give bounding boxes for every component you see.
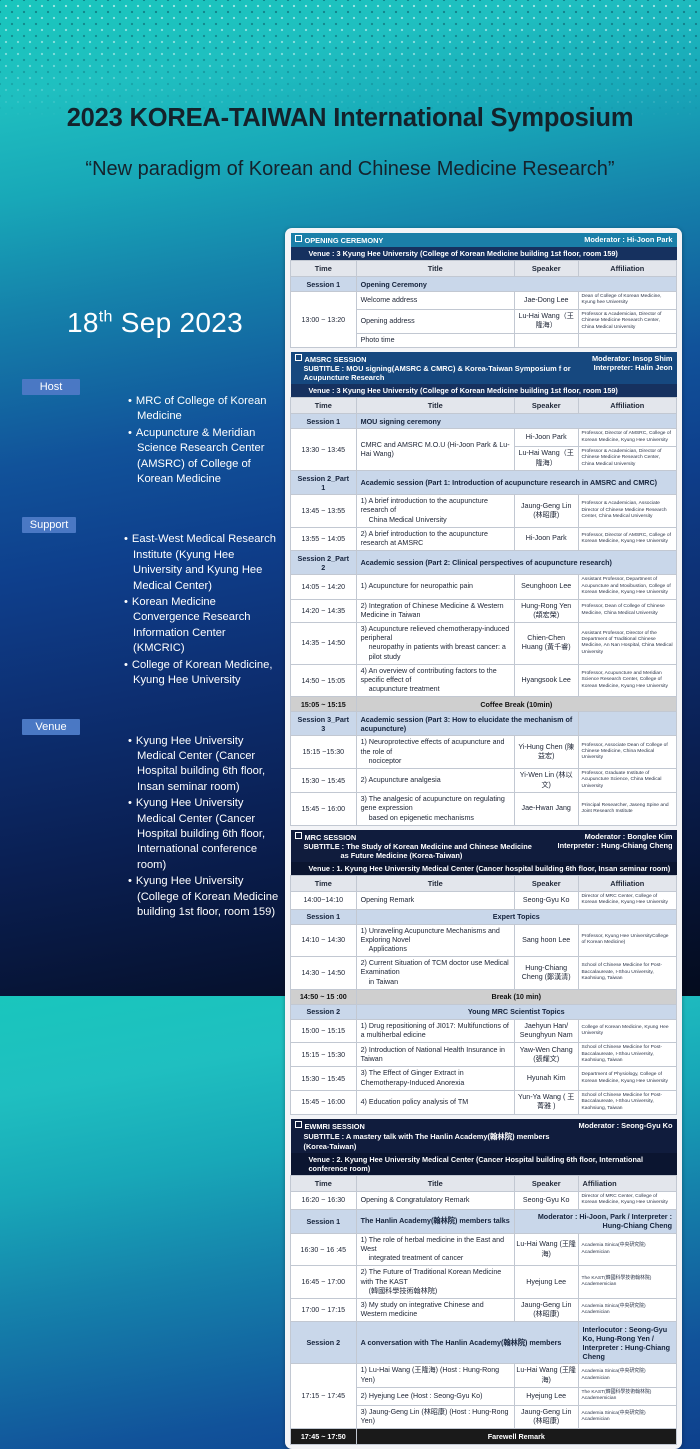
row-title-line2: integrated treatment of cancer xyxy=(361,1254,510,1263)
list-item: Kyung Hee University Medical Center (Can… xyxy=(128,796,280,873)
col-title: Title xyxy=(356,1176,514,1192)
row-speaker: Seong-Gyu Ko xyxy=(514,1192,578,1210)
col-title: Title xyxy=(356,261,514,277)
table-row: 13:45 ~ 13:55 1) A brief introduction to… xyxy=(291,495,677,528)
session-extra xyxy=(578,712,676,736)
section-moderator: Moderator : Hi-Joon Park xyxy=(578,235,672,244)
row-title-line1: 1) A brief introduction to the acupunctu… xyxy=(361,497,488,514)
host-items: MRC of College of Korean Medicine Acupun… xyxy=(88,394,280,487)
row-speaker: Jaung-Geng Lin (林昭康) xyxy=(514,1405,578,1428)
row-affiliation: Academia Sinica(中央研究院) Academician xyxy=(578,1405,676,1428)
bullet-square-icon xyxy=(295,832,302,839)
break-row: 15:05 ~ 15:15 Coffee Break (10min) xyxy=(291,697,677,712)
session-title: Academic session (Part 1: Introduction o… xyxy=(356,471,676,495)
section-subtitle: SUBTITLE : The Study of Korean Medicine … xyxy=(295,842,552,851)
row-title-line2: (韓國科學技術翰林院) xyxy=(361,1287,510,1296)
row-affiliation: Director of MRC Center, College of Korea… xyxy=(578,1192,676,1210)
row-title-line2: acupuncture treatment xyxy=(361,685,510,694)
event-date-month-year: Sep 2023 xyxy=(121,307,243,338)
host-group: Host MRC of College of Korean Medicine A… xyxy=(22,378,280,503)
row-title: 2) Hyejung Lee (Host : Seong-Gyu Ko) xyxy=(356,1387,514,1405)
session-row: Session 1 The Hanlin Academy(翰林院) member… xyxy=(291,1209,677,1233)
row-time: 16:20 ~ 16:30 xyxy=(291,1192,357,1210)
row-speaker: Seong-Gyu Ko xyxy=(514,891,578,909)
col-time: Time xyxy=(291,261,357,277)
row-time: 16:30 ~ 16 :45 xyxy=(291,1233,357,1266)
col-speaker: Speaker xyxy=(514,875,578,891)
session-title: Academic session (Part 3: How to elucida… xyxy=(356,712,578,736)
session-title: Academic session (Part 2: Clinical persp… xyxy=(356,551,676,575)
row-title: Opening address xyxy=(356,309,514,333)
row-time: 14:10 ~ 14:30 xyxy=(291,924,357,957)
table-row: 17:15 ~ 17:45 1) Lu-Hai Wang (王隆海) (Host… xyxy=(291,1364,677,1387)
row-title: 1) A brief introduction to the acupunctu… xyxy=(356,495,514,528)
session-interlocutor: Interlocutor : Seong-Gyu Ko, Hung-Rong Y… xyxy=(578,1322,676,1364)
row-time: 15:15 ~15:30 xyxy=(291,736,357,769)
table-row: 15:15 ~ 15:30 2) Introduction of Nationa… xyxy=(291,1043,677,1067)
row-title: Photo time xyxy=(356,334,514,348)
list-item: East-West Medical Research Institute (Ky… xyxy=(124,532,280,594)
row-title-line1: 2) Current Situation of TCM doctor use M… xyxy=(361,959,509,976)
row-time: 16:45 ~ 17:00 xyxy=(291,1266,357,1299)
venue-tag: Venue xyxy=(22,719,80,735)
row-time: 17:00 ~ 17:15 xyxy=(291,1299,357,1322)
list-item: MRC of College of Korean Medicine xyxy=(128,394,280,425)
table-row: 13:30 ~ 13:45 CMRC and AMSRC M.O.U (Hi-J… xyxy=(291,429,677,447)
row-affiliation xyxy=(578,334,676,348)
row-affiliation: Professor & Academician, Associate Direc… xyxy=(578,495,676,528)
section-moderator: Moderator : Seong-Gyu Ko xyxy=(572,1121,672,1130)
row-title-line1: 4) An overview of contributing factors t… xyxy=(361,667,497,684)
row-title: 1) Unraveling Acupuncture Mechanisms and… xyxy=(356,924,514,957)
session-title: MOU signing ceremony xyxy=(356,414,676,429)
row-time: 14:20 ~ 14:35 xyxy=(291,599,357,622)
row-title: 3) The analgesic of acupuncture on regul… xyxy=(356,793,514,826)
row-title-line2: China Medical University xyxy=(361,516,510,525)
row-speaker: Chien-Chen Huang (黃千睿) xyxy=(514,622,578,664)
row-title: CMRC and AMSRC M.O.U (Hi-Joon Park & Lu-… xyxy=(356,429,514,471)
session-title: A conversation with The Hanlin Academy(翰… xyxy=(356,1322,578,1364)
event-date: 18th Sep 2023 xyxy=(30,307,280,339)
row-affiliation: Academia Sinica(中央研究院) Academician xyxy=(578,1299,676,1322)
section-header-amsrc: AMSRC SESSION SUBTITLE : MOU signing(AMS… xyxy=(291,352,677,384)
session-label: Session 2_Part 1 xyxy=(291,471,357,495)
row-affiliation: School of Chinese Medicine for Post-Bacc… xyxy=(578,1043,676,1067)
dot-pattern-decoration xyxy=(0,0,700,118)
row-affiliation: Professor, Acupuncture and Meridian Scie… xyxy=(578,664,676,697)
section-header-ewmri: EWMRI SESSION SUBTITLE : A mastery talk … xyxy=(291,1119,677,1153)
session-title: The Hanlin Academy(翰林院) members talks xyxy=(356,1209,514,1233)
session-row: Session 1 MOU signing ceremony xyxy=(291,414,677,429)
row-title: 1) Acupuncture for neuropathic pain xyxy=(356,575,514,599)
table-row: 14:10 ~ 14:30 1) Unraveling Acupuncture … xyxy=(291,924,677,957)
host-tag: Host xyxy=(22,379,80,395)
row-speaker: Lu-Hai Wang（王隆海） xyxy=(514,447,578,471)
row-title-line2: neuropathy in patients with breast cance… xyxy=(361,643,510,661)
row-title-line1: 1) Neuroprotective effects of acupunctur… xyxy=(361,738,505,755)
col-time: Time xyxy=(291,1176,357,1192)
session-row: Session 1 Opening Ceremony xyxy=(291,277,677,292)
session-label: Session 2_Part 2 xyxy=(291,551,357,575)
row-title-line2: in Taiwan xyxy=(361,978,510,987)
session-title: Young MRC Scientist Topics xyxy=(356,1004,676,1019)
row-title: 3) Acupuncture relieved chemotherapy-ind… xyxy=(356,622,514,664)
row-title: 1) Lu-Hai Wang (王隆海) (Host : Hung-Rong Y… xyxy=(356,1364,514,1387)
list-item: Acupuncture & Meridian Science Research … xyxy=(128,426,280,488)
row-title: Opening & Congratulatory Remark xyxy=(356,1192,514,1210)
section-name: OPENING CEREMONY xyxy=(305,236,384,245)
row-title: 4) Education policy analysis of TM xyxy=(356,1090,514,1114)
session-title: Expert Topics xyxy=(356,909,676,924)
row-affiliation: Professor, Associate Dean of College of … xyxy=(578,736,676,769)
section-moderator: Moderator: Insop Shim xyxy=(592,354,672,363)
section-name: AMSRC SESSION xyxy=(305,355,367,364)
session-label: Session 1 xyxy=(291,277,357,292)
row-title-line2: Applications xyxy=(361,945,510,954)
session-row: Session 2_Part 1 Academic session (Part … xyxy=(291,471,677,495)
column-header-row: Time Title Speaker Affiliation xyxy=(291,1176,677,1192)
row-affiliation: Professor, Kyung Hee UniversityCollege o… xyxy=(578,924,676,957)
row-time: 15:30 ~ 15:45 xyxy=(291,768,357,792)
row-speaker: Seunghoon Lee xyxy=(514,575,578,599)
row-title: Welcome address xyxy=(356,292,514,310)
col-title: Title xyxy=(356,398,514,414)
section-name: MRC SESSION xyxy=(305,833,357,842)
row-speaker: Jaung-Geng Lin (林昭康) xyxy=(514,495,578,528)
farewell-label: Farewell Remark xyxy=(356,1429,676,1445)
row-time: 14:05 ~ 14:20 xyxy=(291,575,357,599)
col-time: Time xyxy=(291,398,357,414)
row-time: 14:50 ~ 15:05 xyxy=(291,664,357,697)
row-title: Opening Remark xyxy=(356,891,514,909)
session-label: Session 3_Part 3 xyxy=(291,712,357,736)
support-group: Support East-West Medical Research Insti… xyxy=(22,516,280,704)
col-time: Time xyxy=(291,875,357,891)
row-affiliation: Director of MRC Center, College of Korea… xyxy=(578,891,676,909)
row-title: 2) Introduction of National Health Insur… xyxy=(356,1043,514,1067)
row-title-line1: 1) Unraveling Acupuncture Mechanisms and… xyxy=(361,927,500,944)
row-time: 13:55 ~ 14:05 xyxy=(291,527,357,550)
row-speaker: Yi-Hung Chen (陳益宏) xyxy=(514,736,578,769)
table-row: 13:00 ~ 13:20 Welcome address Jae-Dong L… xyxy=(291,292,677,310)
row-title: 2) Current Situation of TCM doctor use M… xyxy=(356,957,514,990)
row-speaker: Hi-Joon Park xyxy=(514,429,578,447)
page-title: 2023 KOREA-TAIWAN International Symposiu… xyxy=(0,104,700,133)
table-row: 16:20 ~ 16:30 Opening & Congratulatory R… xyxy=(291,1192,677,1210)
row-affiliation: The KAST(韓國科學技術翰林院) Academemician xyxy=(578,1387,676,1405)
table-row: 14:00~14:10 Opening Remark Seong-Gyu Ko … xyxy=(291,891,677,909)
row-time: 14:35 ~ 14:50 xyxy=(291,622,357,664)
interpreter-line2: Interpreter : Hung-Chiang Cheng xyxy=(583,1343,672,1361)
section-mrc: MRC SESSION SUBTITLE : The Study of Kore… xyxy=(290,830,677,1115)
row-speaker: Jae-Dong Lee xyxy=(514,292,578,310)
session-label: Session 1 xyxy=(291,1209,357,1233)
col-affiliation: Affiliation xyxy=(578,1176,676,1192)
row-affiliation: Assistant Professor, Department of Acupu… xyxy=(578,575,676,599)
row-affiliation: Academia Sinica(中央研究院) Academician xyxy=(578,1364,676,1387)
row-title: 1) Neuroprotective effects of acupunctur… xyxy=(356,736,514,769)
bullet-square-icon xyxy=(295,235,302,242)
section-opening-ceremony: OPENING CEREMONY Moderator : Hi-Joon Par… xyxy=(290,233,677,348)
break-time: 14:50 ~ 15 :00 xyxy=(291,989,357,1004)
session-row: Session 2 Young MRC Scientist Topics xyxy=(291,1004,677,1019)
row-affiliation: Professor & Academician, Director of Chi… xyxy=(578,447,676,471)
row-affiliation: Department of Physiology, College of Kor… xyxy=(578,1067,676,1090)
row-speaker xyxy=(514,334,578,348)
row-affiliation: Principal Researcher, Jaseng Spine and J… xyxy=(578,793,676,826)
list-item: Kyung Hee University Medical Center (Can… xyxy=(128,734,280,796)
section-venue: Venue : 3 Kyung Hee University (College … xyxy=(291,247,677,261)
section-interpreter: Interpreter: Halin Jeon xyxy=(592,363,672,372)
row-affiliation: Dean of College of Korean Medicine, Kyun… xyxy=(578,292,676,310)
page-subtitle: “New paradigm of Korean and Chinese Medi… xyxy=(0,158,700,181)
section-subtitle: SUBTITLE : MOU signing(AMSRC & CMRC) & K… xyxy=(295,364,587,382)
session-label: Session 2 xyxy=(291,1004,357,1019)
row-speaker: Hyangsook Lee xyxy=(514,664,578,697)
table-row: 15:00 ~ 15:15 1) Drug repositioning of J… xyxy=(291,1019,677,1042)
section-header-mrc: MRC SESSION SUBTITLE : The Study of Kore… xyxy=(291,830,677,862)
interlocutor-line1: Interlocutor : Seong-Gyu Ko, Hung-Rong Y… xyxy=(583,1325,672,1343)
row-time: 15:45 ~ 16:00 xyxy=(291,1090,357,1114)
row-title: 3) The Effect of Ginger Extract in Chemo… xyxy=(356,1067,514,1090)
row-title-line2: based on epigenetic mechanisms xyxy=(361,814,510,823)
row-speaker: Sang hoon Lee xyxy=(514,924,578,957)
table-row: 15:45 ~ 16:00 4) Education policy analys… xyxy=(291,1090,677,1114)
row-title: 1) The role of herbal medicine in the Ea… xyxy=(356,1233,514,1266)
row-affiliation: Professor, Director of AMSRC, College of… xyxy=(578,527,676,550)
col-affiliation: Affiliation xyxy=(578,875,676,891)
section-venue: Venue : 3 Kyung Hee University (College … xyxy=(291,384,677,398)
table-row: 14:20 ~ 14:35 2) Integration of Chinese … xyxy=(291,599,677,622)
row-title: 3) My study on integrative Chinese and W… xyxy=(356,1299,514,1322)
session-label: Session 1 xyxy=(291,909,357,924)
row-affiliation: Professor, Dean of College of Chinese Me… xyxy=(578,599,676,622)
col-affiliation: Affiliation xyxy=(578,398,676,414)
row-speaker: Hyejung Lee xyxy=(514,1266,578,1299)
row-speaker: Lu-Hai Wang (王隆海) xyxy=(514,1364,578,1387)
row-affiliation: Academia Sinica(中央研究院) Academician xyxy=(578,1233,676,1266)
session-row: Session 2_Part 2 Academic session (Part … xyxy=(291,551,677,575)
row-affiliation: Assistant Professor, Director of the Dep… xyxy=(578,622,676,664)
row-title-line1: 3) Acupuncture relieved chemotherapy-ind… xyxy=(361,625,510,642)
row-title-line1: 3) The analgesic of acupuncture on regul… xyxy=(361,795,505,812)
row-speaker: Yi-Wen Lin (林以文) xyxy=(514,768,578,792)
row-affiliation: Professor, Director of AMSRC, College of… xyxy=(578,429,676,447)
event-date-ordinal: th xyxy=(99,309,113,326)
row-speaker: Jaung-Geng Lin (林昭康) xyxy=(514,1299,578,1322)
row-time: 14:30 ~ 14:50 xyxy=(291,957,357,990)
row-title-line2: nociceptor xyxy=(361,757,510,766)
table-row: 13:55 ~ 14:05 2) A brief introduction to… xyxy=(291,527,677,550)
session-row: Session 2 A conversation with The Hanlin… xyxy=(291,1322,677,1364)
row-speaker: Hung-Rong Yen (頡宏榮) xyxy=(514,599,578,622)
row-affiliation: The KAST(韓國科學技術翰林院) Academemician xyxy=(578,1266,676,1299)
bullet-square-icon xyxy=(295,354,302,361)
row-affiliation: Professor & Academician, Director of Chi… xyxy=(578,309,676,333)
section-venue: Venue : 1. Kyung Hee University Medical … xyxy=(291,862,677,876)
row-affiliation: Professor, Graduate Institute of Acupunc… xyxy=(578,768,676,792)
bullet-square-icon xyxy=(295,1121,302,1128)
row-affiliation: School of Chinese Medicine for Post-Bacc… xyxy=(578,957,676,990)
session-moderator-interpreter: Moderator : Hi-Joon, Park / Interpreter … xyxy=(514,1209,676,1233)
table-row: 17:00 ~ 17:15 3) My study on integrative… xyxy=(291,1299,677,1322)
farewell-row: 17:45 ~ 17:50 Farewell Remark xyxy=(291,1429,677,1445)
section-moderator: Moderator : Bonglee Kim xyxy=(558,832,673,841)
col-title: Title xyxy=(356,875,514,891)
row-time: 13:30 ~ 13:45 xyxy=(291,429,357,471)
venue-group: Venue Kyung Hee University Medical Cente… xyxy=(22,718,280,937)
row-title: 4) An overview of contributing factors t… xyxy=(356,664,514,697)
section-venue: Venue : 2. Kyung Hee University Medical … xyxy=(291,1153,677,1176)
section-subtitle: SUBTITLE : A mastery talk with The Hanli… xyxy=(295,1131,573,1151)
col-speaker: Speaker xyxy=(514,1176,578,1192)
support-tag: Support xyxy=(22,517,76,533)
session-row: Session 1 Expert Topics xyxy=(291,909,677,924)
table-row: 15:30 ~ 15:45 2) Acupuncture analgesia Y… xyxy=(291,768,677,792)
list-item: College of Korean Medicine, Kyung Hee Un… xyxy=(124,658,280,689)
list-item: Korean Medicine Convergence Research Inf… xyxy=(124,595,280,657)
session-title: Opening Ceremony xyxy=(356,277,676,292)
section-subtitle-2: as Future Medicine (Korea-Taiwan) xyxy=(295,851,552,860)
row-affiliation: School of Chinese Medicine for Post-Bacc… xyxy=(578,1090,676,1114)
support-items: East-West Medical Research Institute (Ky… xyxy=(84,532,280,688)
col-speaker: Speaker xyxy=(514,398,578,414)
session-label: Session 1 xyxy=(291,414,357,429)
row-speaker: Lu-Hai Wang（王隆海） xyxy=(514,309,578,333)
row-time: 15:45 ~ 16:00 xyxy=(291,793,357,826)
section-header-opening: OPENING CEREMONY Moderator : Hi-Joon Par… xyxy=(291,233,677,247)
row-title: 2) Integration of Chinese Medicine & Wes… xyxy=(356,599,514,622)
row-time: 15:00 ~ 15:15 xyxy=(291,1019,357,1042)
venue-items: Kyung Hee University Medical Center (Can… xyxy=(88,734,280,921)
section-ewmri: EWMRI SESSION SUBTITLE : A mastery talk … xyxy=(290,1119,677,1445)
table-row: 16:30 ~ 16 :45 1) The role of herbal med… xyxy=(291,1233,677,1266)
row-title: 1) Drug repositioning of JI017: Multifun… xyxy=(356,1019,514,1042)
table-row: 14:50 ~ 15:05 4) An overview of contribu… xyxy=(291,664,677,697)
event-info-block: Host MRC of College of Korean Medicine A… xyxy=(22,378,280,949)
row-time: 17:15 ~ 17:45 xyxy=(291,1364,357,1429)
row-speaker: Jae-Hwan Jang xyxy=(514,793,578,826)
table-row: 15:30 ~ 15:45 3) The Effect of Ginger Ex… xyxy=(291,1067,677,1090)
table-row: 15:45 ~ 16:00 3) The analgesic of acupun… xyxy=(291,793,677,826)
row-title-line1: 1) The role of herbal medicine in the Ea… xyxy=(361,1236,504,1253)
schedule-panel: OPENING CEREMONY Moderator : Hi-Joon Par… xyxy=(285,228,682,1449)
list-item: Kyung Hee University (College of Korean … xyxy=(128,874,280,920)
column-header-row: Time Title Speaker Affiliation xyxy=(291,261,677,277)
section-interpreter: Interpreter : Hung-Chiang Cheng xyxy=(558,841,673,850)
event-date-day: 18 xyxy=(67,307,99,338)
break-row: 14:50 ~ 15 :00 Break (10 min) xyxy=(291,989,677,1004)
row-time: 15:15 ~ 15:30 xyxy=(291,1043,357,1067)
row-speaker: Yun-Ya Wang ( 王菁雅 ) xyxy=(514,1090,578,1114)
col-speaker: Speaker xyxy=(514,261,578,277)
section-amsrc: AMSRC SESSION SUBTITLE : MOU signing(AMS… xyxy=(290,352,677,826)
session-label: Session 2 xyxy=(291,1322,357,1364)
row-speaker: Hung-Chiang Cheng (鄭漢清) xyxy=(514,957,578,990)
table-row: 15:15 ~15:30 1) Neuroprotective effects … xyxy=(291,736,677,769)
row-title: 3) Jaung-Geng Lin (林昭康) (Host : Hung-Ron… xyxy=(356,1405,514,1428)
table-row: 14:35 ~ 14:50 3) Acupuncture relieved ch… xyxy=(291,622,677,664)
row-title: 2) A brief introduction to the acupunctu… xyxy=(356,527,514,550)
row-title-line1: 2) The Future of Traditional Korean Medi… xyxy=(361,1268,502,1285)
table-row: 14:30 ~ 14:50 2) Current Situation of TC… xyxy=(291,957,677,990)
table-row: 16:45 ~ 17:00 2) The Future of Tradition… xyxy=(291,1266,677,1299)
col-affiliation: Affiliation xyxy=(578,261,676,277)
row-time: 15:30 ~ 15:45 xyxy=(291,1067,357,1090)
row-speaker: Lu-Hai Wang (王隆海) xyxy=(514,1233,578,1266)
row-speaker: Yaw-Wen Chang (張耀文) xyxy=(514,1043,578,1067)
row-speaker: Jaehyun Han/ Seunghyun Nam xyxy=(514,1019,578,1042)
break-label: Coffee Break (10min) xyxy=(356,697,676,712)
break-label: Break (10 min) xyxy=(356,989,676,1004)
row-speaker: Hyunah Kim xyxy=(514,1067,578,1090)
farewell-time: 17:45 ~ 17:50 xyxy=(291,1429,357,1445)
row-time: 14:00~14:10 xyxy=(291,891,357,909)
row-affiliation: College of Korean Medicine, Kyung Hee Un… xyxy=(578,1019,676,1042)
row-title: 2) The Future of Traditional Korean Medi… xyxy=(356,1266,514,1299)
row-time: 13:00 ~ 13:20 xyxy=(291,292,357,348)
break-time: 15:05 ~ 15:15 xyxy=(291,697,357,712)
row-time: 13:45 ~ 13:55 xyxy=(291,495,357,528)
section-name: EWMRI SESSION xyxy=(305,1122,365,1131)
table-row: 14:05 ~ 14:20 1) Acupuncture for neuropa… xyxy=(291,575,677,599)
column-header-row: Time Title Speaker Affiliation xyxy=(291,875,677,891)
row-title: 2) Acupuncture analgesia xyxy=(356,768,514,792)
row-speaker: Hyejung Lee xyxy=(514,1387,578,1405)
row-speaker: Hi-Joon Park xyxy=(514,527,578,550)
session-row: Session 3_Part 3 Academic session (Part … xyxy=(291,712,677,736)
column-header-row: Time Title Speaker Affiliation xyxy=(291,398,677,414)
